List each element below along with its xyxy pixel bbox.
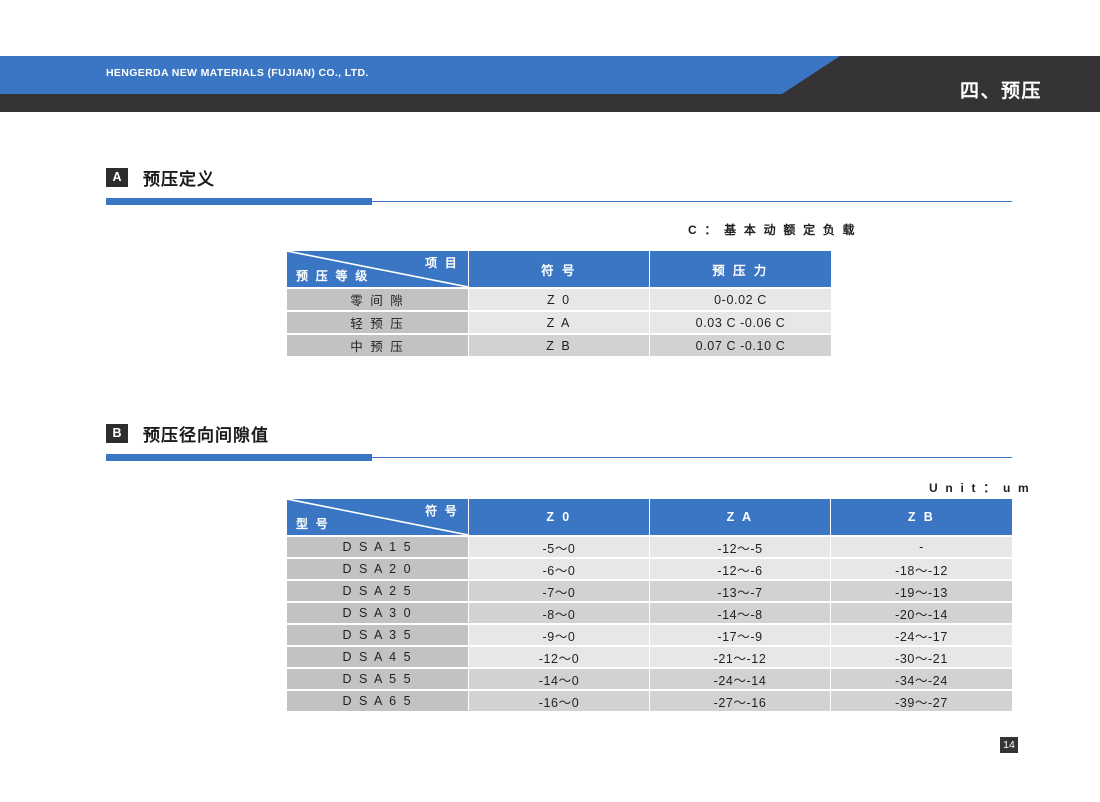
table-b-cell-zb: -39～-27 xyxy=(831,691,1012,711)
table-b-cell-zb: -18～-12 xyxy=(831,559,1012,579)
table-a-row-label: 零 间 隙 xyxy=(287,289,468,310)
table-a-row-label: 中 预 压 xyxy=(287,335,468,356)
section-a-title: 预压定义 xyxy=(143,165,215,190)
section-a-rule xyxy=(106,197,1012,205)
section-b-rule-thick xyxy=(106,454,372,461)
table-b-cell-z0: -12～0 xyxy=(469,647,649,667)
table-a-header-row: 项 目 预 压 等 级 符 号 预 压 力 xyxy=(287,251,831,287)
table-row: D S A 3 5 -9～0 -17～-9 -24～-17 xyxy=(287,625,1012,645)
table-row: 轻 预 压 Z A 0.03 C -0.06 C xyxy=(287,312,831,333)
table-a-caption: C ： 基 本 动 额 定 负 载 xyxy=(688,221,857,238)
table-b-row-model: D S A 5 5 xyxy=(287,669,468,689)
table-b-row-model: D S A 6 5 xyxy=(287,691,468,711)
table-b-cell-z0: -14～0 xyxy=(469,669,649,689)
table-row: D S A 3 0 -8～0 -14～-8 -20～-14 xyxy=(287,603,1012,623)
table-b-col-z0: Z 0 xyxy=(469,499,649,535)
table-b-corner-top-label: 符 号 xyxy=(425,502,459,519)
section-b-title: 预压径向间隙值 xyxy=(143,421,269,446)
table-b-row-model: D S A 3 5 xyxy=(287,625,468,645)
table-b-corner-cell: 符 号 型 号 xyxy=(287,499,468,535)
table-row: D S A 5 5 -14～0 -24～-14 -34～-24 xyxy=(287,669,1012,689)
table-b-cell-z0: -9～0 xyxy=(469,625,649,645)
section-b-rule xyxy=(106,453,1012,461)
table-b-cell-za: -13～-7 xyxy=(650,581,830,601)
table-a-col-force: 预 压 力 xyxy=(650,251,831,287)
table-a-cell-force: 0.03 C -0.06 C xyxy=(650,312,831,333)
section-b-rule-thin xyxy=(372,457,1012,459)
table-a-cell-symbol: Z 0 xyxy=(469,289,649,310)
section-a-badge: A xyxy=(106,168,128,187)
table-b-cell-z0: -6～0 xyxy=(469,559,649,579)
table-b-row-model: D S A 2 0 xyxy=(287,559,468,579)
table-row: 中 预 压 Z B 0.07 C -0.10 C xyxy=(287,335,831,356)
table-a-corner-bottom-label: 预 压 等 级 xyxy=(296,267,369,284)
table-row: 零 间 隙 Z 0 0-0.02 C xyxy=(287,289,831,310)
preload-radial-clearance-table: 符 号 型 号 Z 0 Z A Z B D S A 1 5 -5～0 -12～-… xyxy=(287,499,1012,711)
section-a-rule-thick xyxy=(106,198,372,205)
company-name: HENGERDA NEW MATERIALS (FUJIAN) CO., LTD… xyxy=(106,67,369,79)
table-row: D S A 1 5 -5～0 -12～-5 - xyxy=(287,537,1012,557)
page-number-badge: 14 xyxy=(1000,737,1018,753)
section-a-heading-row: A 预压定义 xyxy=(106,164,1012,190)
table-b-cell-z0: -7～0 xyxy=(469,581,649,601)
section-a-heading: A 预压定义 xyxy=(106,164,1012,205)
table-b-col-zb: Z B xyxy=(831,499,1012,535)
table-b-row-model: D S A 3 0 xyxy=(287,603,468,623)
table-row: D S A 2 5 -7～0 -13～-7 -19～-13 xyxy=(287,581,1012,601)
table-b-cell-z0: -8～0 xyxy=(469,603,649,623)
table-b-cell-zb: - xyxy=(831,537,1012,557)
section-b-heading: B 预压径向间隙值 xyxy=(106,420,1012,461)
table-b-cell-za: -14～-8 xyxy=(650,603,830,623)
section-a-rule-thin xyxy=(372,201,1012,203)
table-b-cell-z0: -5～0 xyxy=(469,537,649,557)
table-b-cell-zb: -34～-24 xyxy=(831,669,1012,689)
table-row: D S A 2 0 -6～0 -12～-6 -18～-12 xyxy=(287,559,1012,579)
table-b-cell-zb: -24～-17 xyxy=(831,625,1012,645)
table-b-caption: U n i t ： u m xyxy=(929,479,1031,496)
table-row: D S A 6 5 -16～0 -27～-16 -39～-27 xyxy=(287,691,1012,711)
table-b-cell-zb: -20～-14 xyxy=(831,603,1012,623)
table-b-cell-za: -24～-14 xyxy=(650,669,830,689)
table-b-cell-za: -12～-6 xyxy=(650,559,830,579)
section-b-badge: B xyxy=(106,424,128,443)
table-a-cell-symbol: Z B xyxy=(469,335,649,356)
chapter-title: 四、预压 xyxy=(960,76,1042,103)
table-a-row-label: 轻 预 压 xyxy=(287,312,468,333)
table-a-cell-force: 0-0.02 C xyxy=(650,289,831,310)
table-b-cell-z0: -16～0 xyxy=(469,691,649,711)
table-a-cell-force: 0.07 C -0.10 C xyxy=(650,335,831,356)
section-b-heading-row: B 预压径向间隙值 xyxy=(106,420,1012,446)
table-row: D S A 4 5 -12～0 -21～-12 -30～-21 xyxy=(287,647,1012,667)
table-a-cell-symbol: Z A xyxy=(469,312,649,333)
table-b-row-model: D S A 1 5 xyxy=(287,537,468,557)
table-b-cell-za: -27～-16 xyxy=(650,691,830,711)
table-b-col-za: Z A xyxy=(650,499,830,535)
table-a-corner-top-label: 项 目 xyxy=(425,254,459,271)
page-header-banner: HENGERDA NEW MATERIALS (FUJIAN) CO., LTD… xyxy=(0,56,1100,112)
table-a-corner-cell: 项 目 预 压 等 级 xyxy=(287,251,468,287)
table-b-header-row: 符 号 型 号 Z 0 Z A Z B xyxy=(287,499,1012,535)
table-b-cell-zb: -30～-21 xyxy=(831,647,1012,667)
table-b-row-model: D S A 4 5 xyxy=(287,647,468,667)
table-b-row-model: D S A 2 5 xyxy=(287,581,468,601)
table-b-cell-za: -21～-12 xyxy=(650,647,830,667)
table-b-cell-za: -12～-5 xyxy=(650,537,830,557)
preload-definition-table: 项 目 预 压 等 级 符 号 预 压 力 零 间 隙 Z 0 0-0.02 C… xyxy=(287,251,831,356)
table-a-col-symbol: 符 号 xyxy=(469,251,649,287)
table-b-cell-za: -17～-9 xyxy=(650,625,830,645)
table-b-corner-bottom-label: 型 号 xyxy=(296,515,330,532)
table-b-cell-zb: -19～-13 xyxy=(831,581,1012,601)
